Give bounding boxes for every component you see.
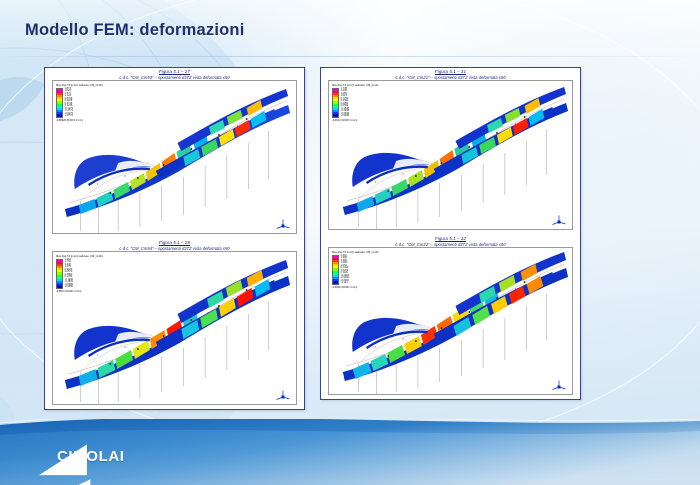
color-legend: Max disp TZ [mm] Loadcase: CM_Cm93 1.873… [56, 84, 116, 122]
legend-colorbar [332, 255, 339, 285]
svg-text:1: 1 [374, 345, 376, 349]
figure-caption: Figura 5.1 – 28 c.d.c. “CM_Cm94” – spost… [45, 239, 304, 251]
figure-frame: 12 34 Max disp TZ [mm] Loadcase: CM_Cm93 [52, 80, 297, 234]
legend-colorbar [56, 259, 63, 289]
svg-text:2: 2 [124, 345, 126, 349]
page-title: Modello FEM: deformazioni [25, 21, 245, 40]
axis-triad-icon [275, 388, 291, 400]
legend-min-label: -0.9012 (NODO 4 mm) [332, 119, 392, 122]
svg-text:2: 2 [402, 337, 404, 341]
figure-group-left: Figura 5.1 – 27 c.d.c. “CM_Cm93” – spost… [44, 67, 305, 410]
figure-frame: 12 34 Max disp TZ [mm] Loadcase: CM_Cm94 [52, 251, 297, 405]
color-legend: Max disp TZ [mm] Loadcase: CM_Cm94 1.962… [56, 255, 116, 293]
legend-min-label: -0.8544 (NODO 4 mm) [56, 290, 116, 293]
figure-group-right: Figura 5.1 – 31 c.d.c. “CM_Cm21” – spost… [320, 67, 581, 400]
figure-caption: Figura 5.1 – 31 c.d.c. “CM_Cm21” – spost… [321, 68, 580, 80]
svg-text:1: 1 [96, 182, 98, 186]
color-legend: Max disp TZ [mm] Loadcase: CM_Cm22 2.310… [332, 251, 392, 289]
figure-top-right[interactable]: Figura 5.1 – 31 c.d.c. “CM_Cm21” – spost… [321, 68, 580, 234]
legend-values: 1.735 1.495 1.255 1.015 0.7752 0.5352 0.… [341, 88, 349, 118]
figure-caption: Figura 5.1 – 32 c.d.c. “CM_Cm22” – spost… [321, 235, 580, 247]
slide-footer: CIMOLAI [0, 419, 700, 485]
figure-frame: 12 34 Max disp TZ [mm] Loadcase: CM_Cm22 [328, 247, 573, 395]
legend-values: 2.310 1.996 1.682 1.368 1.054 0.7400 0.4… [341, 255, 349, 285]
figure-top-left[interactable]: Figura 5.1 – 27 c.d.c. “CM_Cm93” – spost… [45, 68, 304, 238]
legend-colorbar [332, 88, 339, 118]
svg-text:1: 1 [96, 353, 98, 357]
svg-text:1: 1 [374, 180, 376, 184]
legend-min-label: -0.9668 (NODO 4 mm) [332, 286, 392, 289]
legend-values: 1.962 1.701 1.440 1.179 0.9180 0.6570 0.… [65, 259, 73, 289]
svg-text:2: 2 [124, 174, 126, 178]
svg-text:2: 2 [402, 172, 404, 176]
legend-colorbar [56, 88, 63, 118]
legend-values: 1.873 1.623 1.373 1.123 0.8728 0.6228 0.… [65, 88, 73, 118]
cimolai-logo: CIMOLAI [22, 441, 125, 471]
axis-triad-icon [275, 217, 291, 229]
figure-caption: Figura 5.1 – 27 c.d.c. “CM_Cm93” – spost… [45, 68, 304, 80]
header-divider [0, 56, 700, 57]
slide-header: Modello FEM: deformazioni [0, 0, 700, 56]
cimolai-mark-icon [22, 441, 52, 471]
color-legend: Max disp TZ [mm] Loadcase: CM_Cm21 1.735… [332, 84, 392, 122]
legend-min-label: -0.88926 (NODO 4 mm) [56, 119, 116, 122]
axis-triad-icon [551, 378, 567, 390]
axis-triad-icon [551, 213, 567, 225]
figure-frame: 12 34 Max disp TZ [mm] Loadcase: CM_Cm21 [328, 80, 573, 230]
figure-bottom-right[interactable]: Figura 5.1 – 32 c.d.c. “CM_Cm22” – spost… [321, 235, 580, 399]
figure-bottom-left[interactable]: Figura 5.1 – 28 c.d.c. “CM_Cm94” – spost… [45, 239, 304, 409]
